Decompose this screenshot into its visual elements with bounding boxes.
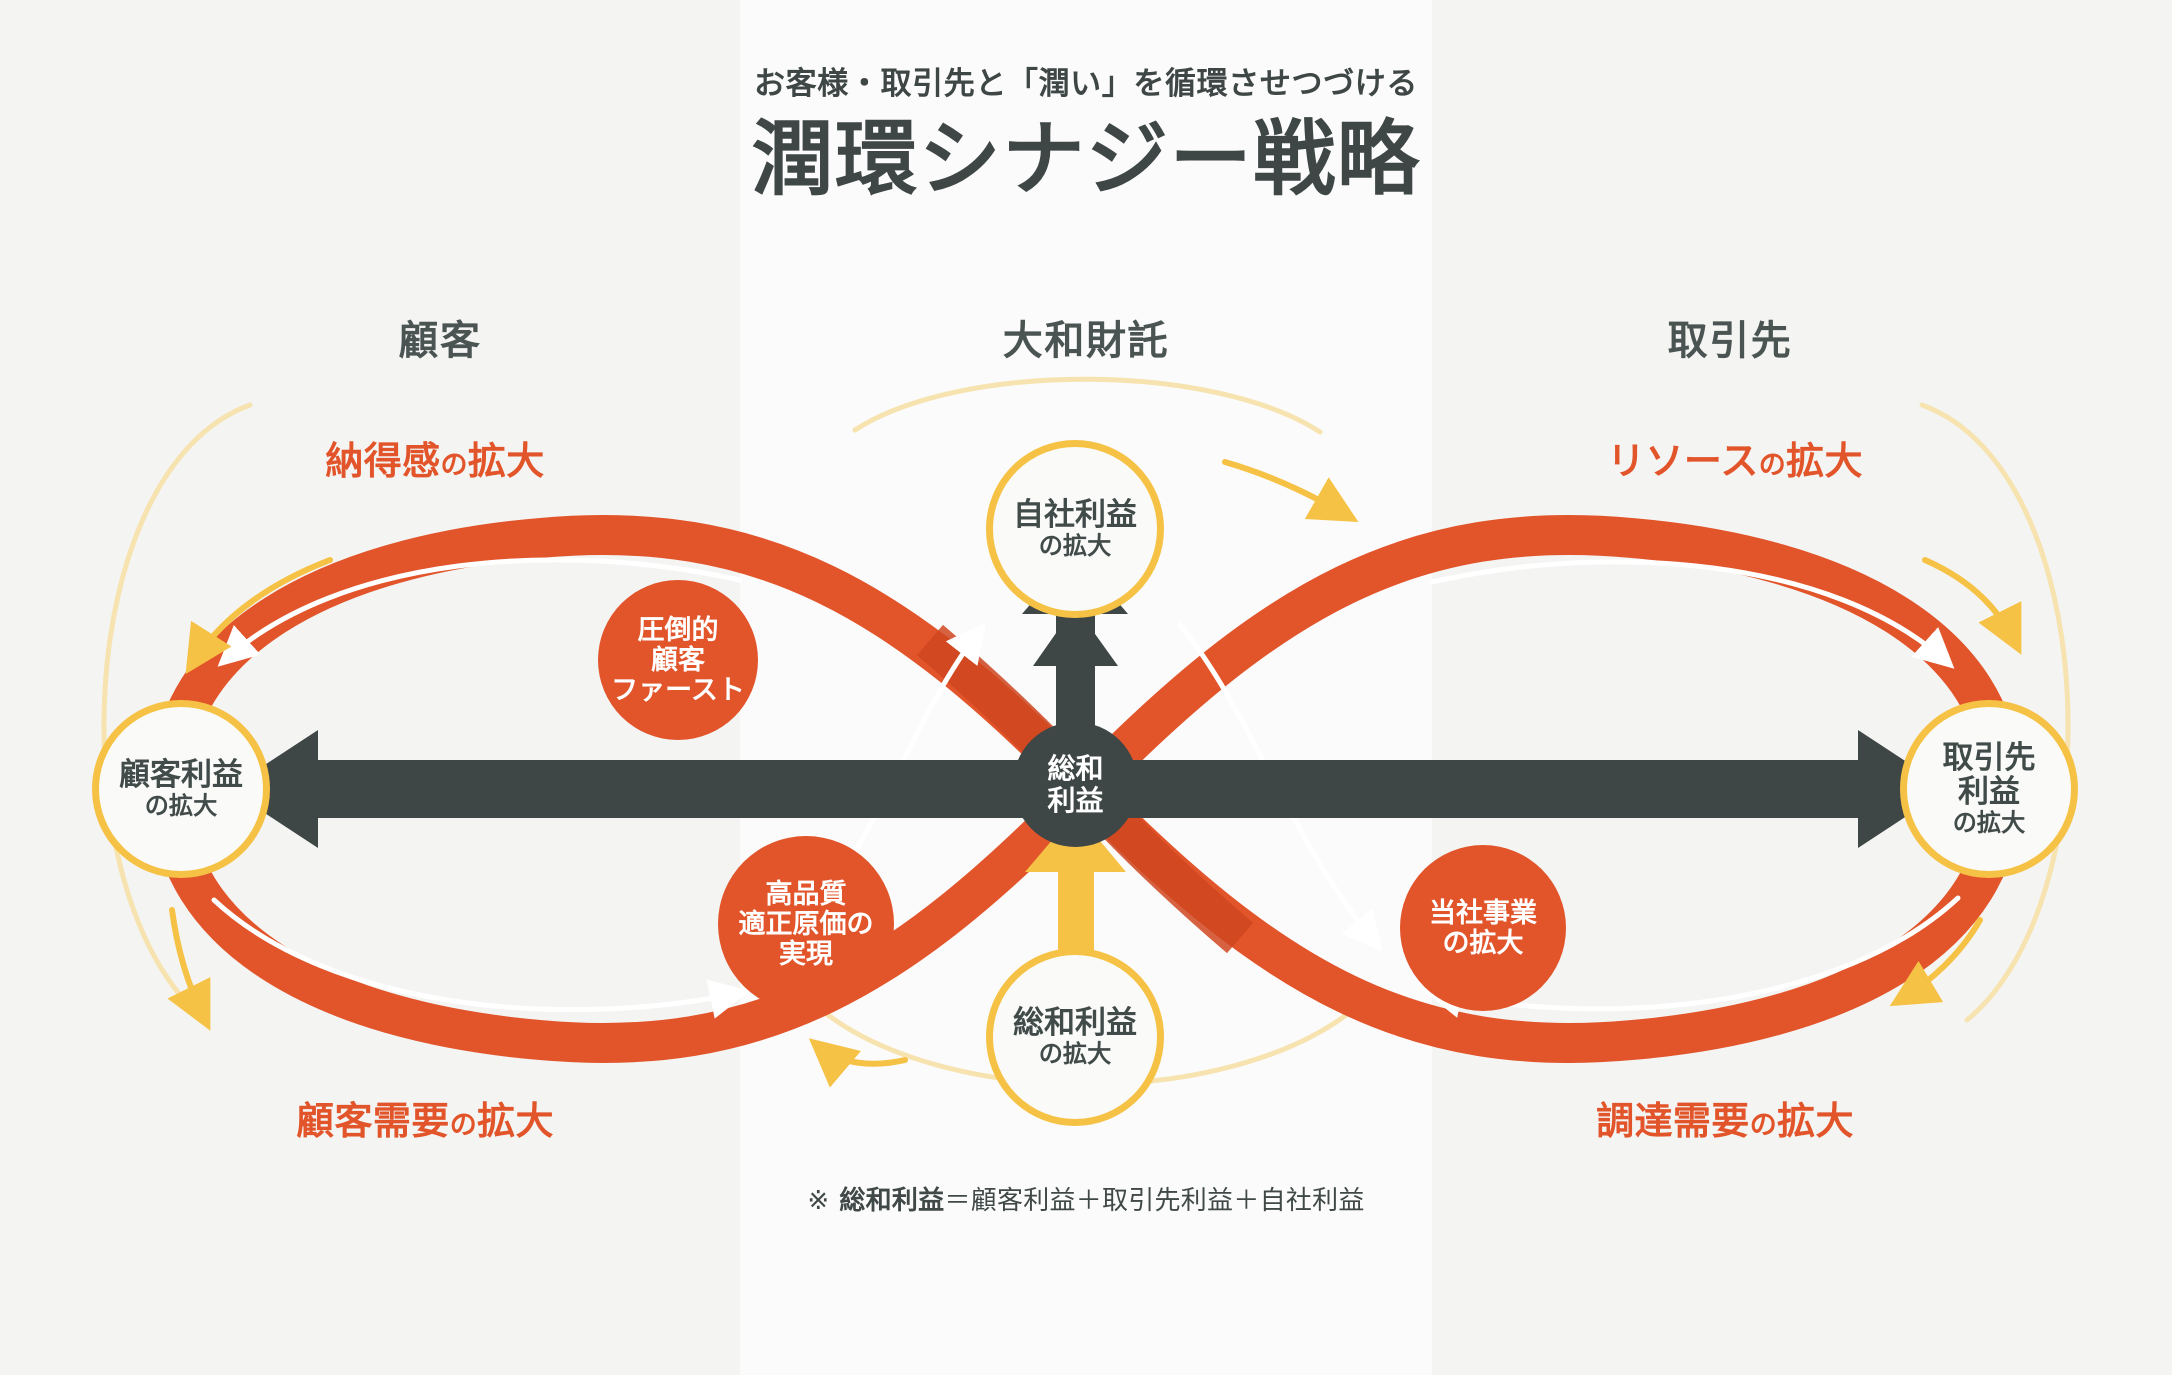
- node-total-profit-line2: 利益: [1047, 785, 1103, 816]
- node-partner-profit-line1: 取引先: [1943, 741, 2036, 776]
- node-customer-first-line1: 圧倒的: [638, 615, 719, 645]
- infographic-root: お客様・取引先と「潤い」を循環させつづける 潤環シナジー戦略 顧客 大和財託 取…: [0, 0, 2172, 1375]
- white-arrow-right-top: [1432, 562, 1947, 662]
- node-total-profit-expand-line2: の拡大: [1039, 1041, 1112, 1068]
- node-quality-cost[interactable]: 高品質 適正原価の 実現: [718, 836, 894, 1012]
- node-customer-profit[interactable]: 顧客利益 の拡大: [92, 700, 270, 878]
- node-customer-first-line3: ファースト: [611, 675, 745, 705]
- gold-arrow-center-top: [1225, 462, 1348, 516]
- node-business-expand-line2: の拡大: [1443, 928, 1524, 958]
- node-total-profit-hub[interactable]: 総和 利益: [1013, 722, 1138, 847]
- infinity-loop-diagram: [0, 0, 2172, 1375]
- footnote-mark-icon: ※: [807, 1185, 829, 1215]
- node-own-profit[interactable]: 自社利益 の拡大: [986, 440, 1164, 618]
- node-partner-profit-line2: 利益: [1958, 775, 2020, 810]
- node-own-profit-line1: 自社利益: [1013, 498, 1137, 533]
- node-customer-profit-line1: 顧客利益: [119, 758, 243, 793]
- node-partner-profit[interactable]: 取引先 利益 の拡大: [1900, 700, 2078, 878]
- node-partner-profit-line3: の拡大: [1953, 810, 2026, 837]
- footnote-term: 総和利益: [839, 1185, 944, 1215]
- node-customer-first-line2: 顧客: [651, 645, 705, 675]
- node-quality-cost-line1: 高品質: [766, 879, 847, 909]
- node-total-profit-line1: 総和: [1047, 753, 1103, 784]
- node-quality-cost-line2: 適正原価の: [739, 909, 874, 939]
- node-total-profit-expand[interactable]: 総和利益 の拡大: [986, 948, 1164, 1126]
- node-business-expand[interactable]: 当社事業 の拡大: [1400, 845, 1566, 1011]
- footnote: ※総和利益＝顧客利益＋取引先利益＋自社利益: [0, 1180, 2172, 1217]
- node-customer-first[interactable]: 圧倒的 顧客 ファースト: [598, 580, 758, 740]
- halo-arc-center-top: [855, 379, 1320, 432]
- footnote-equation: ＝顧客利益＋取引先利益＋自社利益: [944, 1185, 1364, 1215]
- node-total-profit-expand-line1: 総和利益: [1013, 1006, 1137, 1041]
- node-customer-profit-line2: の拡大: [145, 793, 218, 820]
- node-quality-cost-line3: 実現: [779, 939, 833, 969]
- node-own-profit-line2: の拡大: [1039, 533, 1112, 560]
- node-business-expand-line1: 当社事業: [1429, 898, 1537, 928]
